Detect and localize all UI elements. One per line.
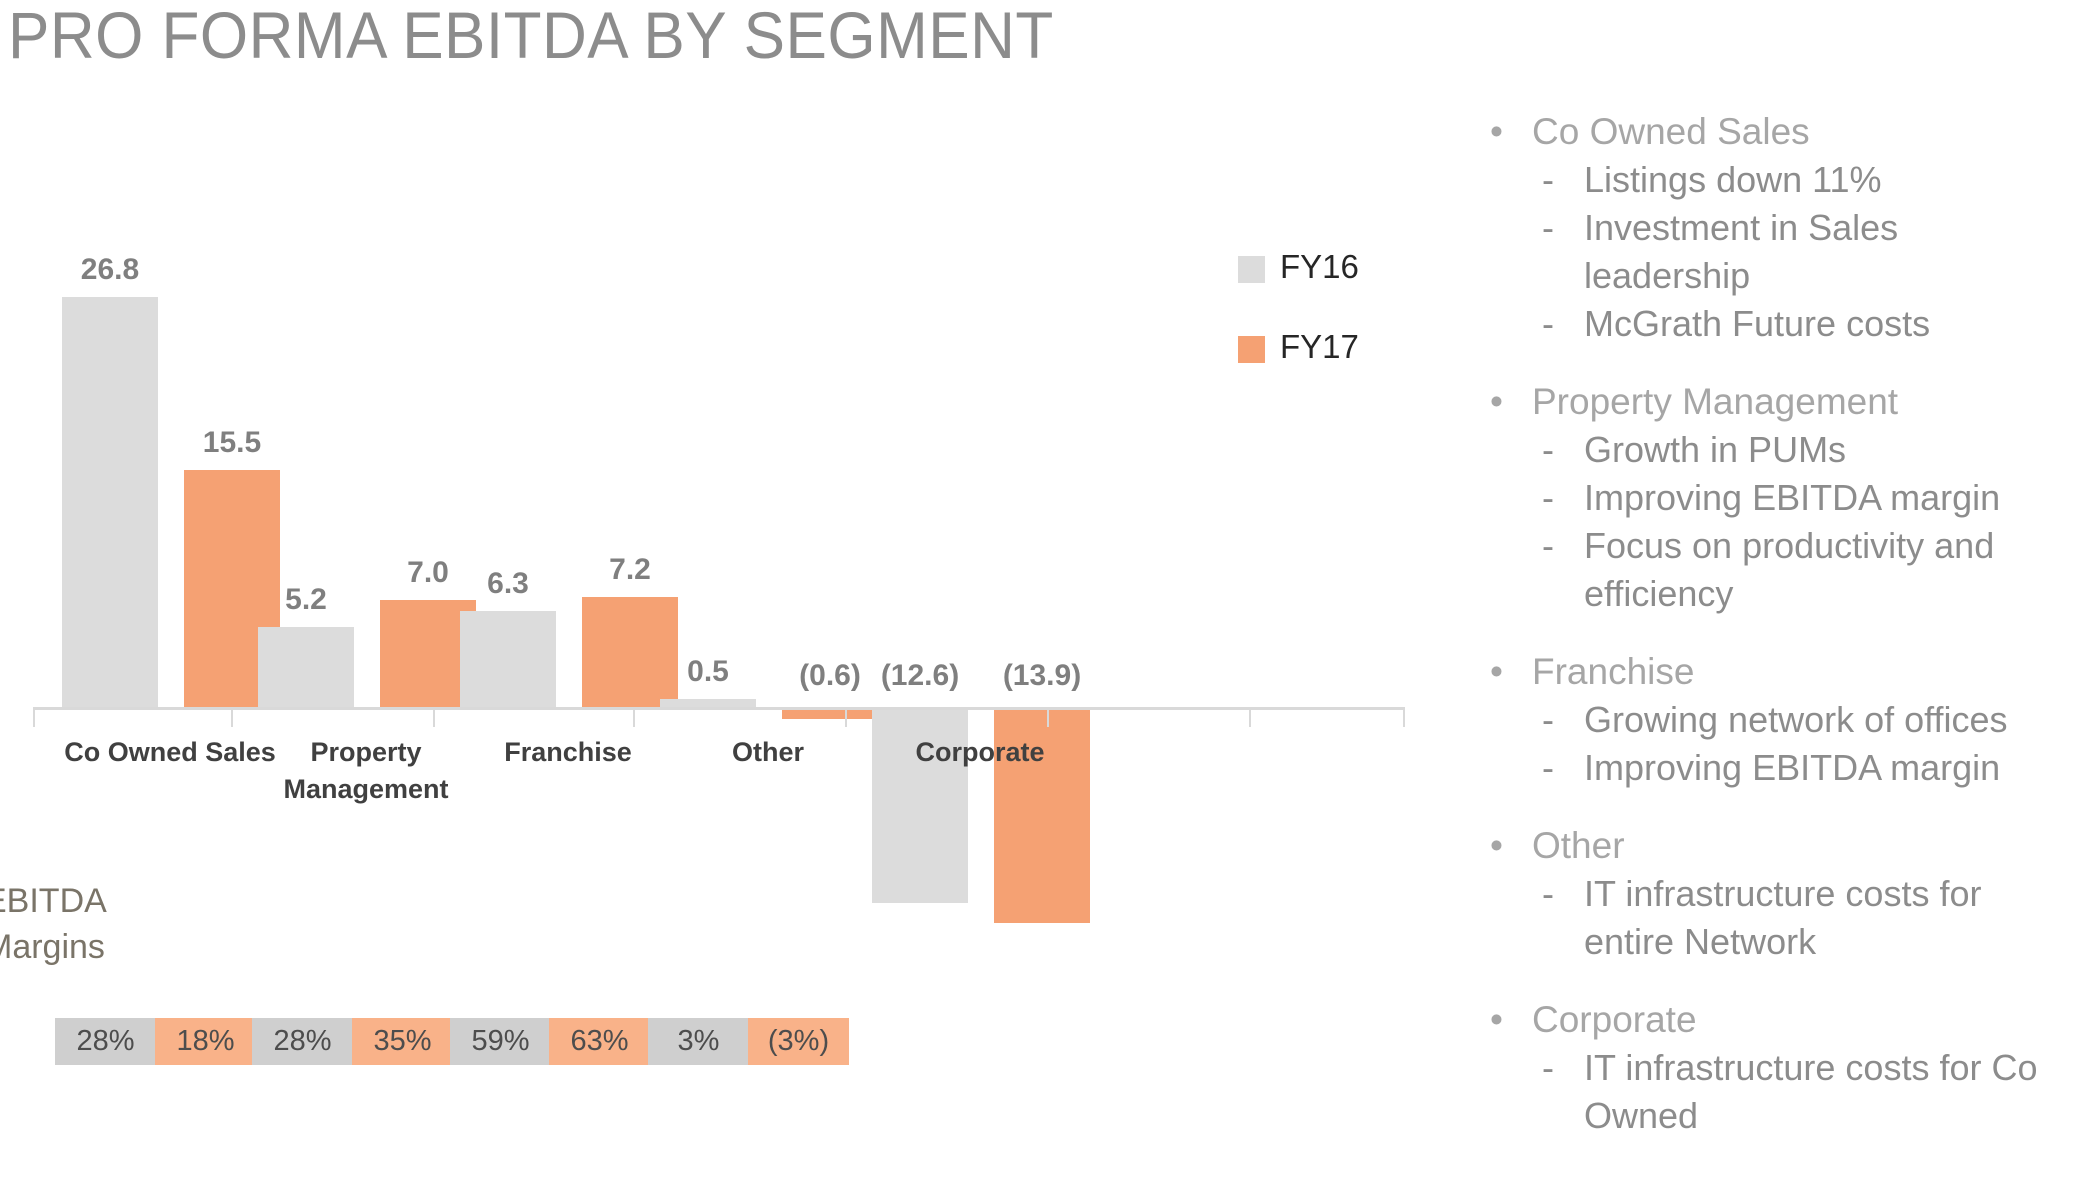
bar-fy16-co-owned-sales xyxy=(62,297,158,707)
commentary-point: -Growing network of offices xyxy=(1470,696,2070,744)
bar-value-label: 26.8 xyxy=(35,253,185,287)
bullet-icon: • xyxy=(1490,108,1503,156)
commentary-point: -Growth in PUMs xyxy=(1470,426,2070,474)
commentary-point-text: McGrath Future costs xyxy=(1584,303,1930,344)
margin-box-fy17: 63% xyxy=(549,1018,650,1065)
bullet-icon: • xyxy=(1490,648,1503,696)
legend-label-fy17: FY17 xyxy=(1280,328,1359,366)
commentary-point: -McGrath Future costs xyxy=(1470,300,2070,348)
margin-box-fy16: 28% xyxy=(252,1018,353,1065)
commentary-heading-text: Franchise xyxy=(1532,651,1694,692)
legend-swatch-fy16-icon xyxy=(1238,256,1265,283)
axis-tick xyxy=(1249,707,1251,727)
commentary-heading: •Property Management xyxy=(1470,378,2070,426)
dash-icon: - xyxy=(1542,522,1554,570)
bar-value-label: 7.2 xyxy=(555,553,705,587)
commentary-point: -IT infrastructure costs for Co Owned xyxy=(1470,1044,2070,1140)
axis-tick xyxy=(1047,707,1049,727)
dash-icon: - xyxy=(1542,696,1554,744)
commentary-point-text: IT infrastructure costs for Co Owned xyxy=(1584,1047,2037,1136)
dash-icon: - xyxy=(1542,204,1554,252)
dash-icon: - xyxy=(1542,156,1554,204)
bullet-icon: • xyxy=(1490,822,1503,870)
commentary-heading: •Corporate xyxy=(1470,996,2070,1044)
commentary-point: -IT infrastructure costs for entire Netw… xyxy=(1470,870,2070,966)
bullet-icon: • xyxy=(1490,378,1503,426)
commentary-point-text: Listings down 11% xyxy=(1584,159,1882,200)
page-title: PRO FORMA EBITDA BY SEGMENT xyxy=(8,2,1054,68)
commentary-panel: •Co Owned Sales-Listings down 11%-Invest… xyxy=(1470,108,2070,1170)
commentary-point-text: IT infrastructure costs for entire Netwo… xyxy=(1584,873,1981,962)
bar-value-label: 15.5 xyxy=(157,426,307,460)
margin-box-fy16: 59% xyxy=(450,1018,551,1065)
dash-icon: - xyxy=(1542,426,1554,474)
bullet-icon: • xyxy=(1490,996,1503,1044)
margin-box-fy16: 3% xyxy=(648,1018,749,1065)
margin-box-fy16: 28% xyxy=(55,1018,156,1065)
axis-tick xyxy=(33,707,35,727)
commentary-group: •Other-IT infrastructure costs for entir… xyxy=(1470,822,2070,966)
bar-fy16-franchise xyxy=(460,611,556,707)
commentary-point-text: Focus on productivity and efficiency xyxy=(1584,525,1994,614)
axis-tick xyxy=(433,707,435,727)
ebitda-bar-chart: 26.815.55.27.06.37.20.5(0.6)(12.6)(13.9)… xyxy=(0,90,1420,890)
axis-tick xyxy=(1403,707,1405,727)
bar-fy17-other xyxy=(782,710,878,719)
bar-fy17-franchise xyxy=(582,597,678,707)
bar-fy16-property-management xyxy=(258,627,354,707)
commentary-group: •Corporate-IT infrastructure costs for C… xyxy=(1470,996,2070,1140)
ebitda-margins-caption-line2: Margins xyxy=(0,924,107,970)
margin-box-fy17: 18% xyxy=(155,1018,256,1065)
margin-box-fy17: (3%) xyxy=(748,1018,849,1065)
commentary-heading: •Co Owned Sales xyxy=(1470,108,2070,156)
legend-swatch-fy17-icon xyxy=(1238,336,1265,363)
bar-value-label: (13.9) xyxy=(967,659,1117,693)
legend-label-fy16: FY16 xyxy=(1280,248,1359,286)
commentary-point: -Improving EBITDA margin xyxy=(1470,744,2070,792)
ebitda-margins-caption-line1: EBITDA xyxy=(0,878,107,924)
axis-tick xyxy=(633,707,635,727)
commentary-heading-text: Other xyxy=(1532,825,1625,866)
axis-tick xyxy=(231,707,233,727)
axis-tick xyxy=(845,707,847,727)
commentary-point-text: Improving EBITDA margin xyxy=(1584,747,2000,788)
commentary-heading-text: Property Management xyxy=(1532,381,1898,422)
commentary-group: •Franchise-Growing network of offices-Im… xyxy=(1470,648,2070,792)
margin-box-fy17: 35% xyxy=(352,1018,453,1065)
slide-canvas: PRO FORMA EBITDA BY SEGMENT 26.815.55.27… xyxy=(0,0,2082,1188)
category-label-corporate: Corporate xyxy=(850,734,1110,771)
category-axis-line xyxy=(33,707,1403,710)
dash-icon: - xyxy=(1542,474,1554,522)
commentary-point-text: Improving EBITDA margin xyxy=(1584,477,2000,518)
commentary-group: •Co Owned Sales-Listings down 11%-Invest… xyxy=(1470,108,2070,348)
commentary-group: •Property Management-Growth in PUMs-Impr… xyxy=(1470,378,2070,618)
bar-fy16-other xyxy=(660,699,756,707)
dash-icon: - xyxy=(1542,744,1554,792)
dash-icon: - xyxy=(1542,1044,1554,1092)
commentary-point-text: Growth in PUMs xyxy=(1584,429,1846,470)
commentary-point: -Improving EBITDA margin xyxy=(1470,474,2070,522)
commentary-point: -Investment in Sales leadership xyxy=(1470,204,2070,300)
commentary-point: -Focus on productivity and efficiency xyxy=(1470,522,2070,618)
commentary-point-text: Growing network of offices xyxy=(1584,699,2008,740)
commentary-point: -Listings down 11% xyxy=(1470,156,2070,204)
commentary-heading: •Franchise xyxy=(1470,648,2070,696)
commentary-heading: •Other xyxy=(1470,822,2070,870)
ebitda-margins-caption: EBITDA Margins xyxy=(0,878,107,970)
commentary-heading-text: Corporate xyxy=(1532,999,1697,1040)
commentary-point-text: Investment in Sales leadership xyxy=(1584,207,1898,296)
commentary-heading-text: Co Owned Sales xyxy=(1532,111,1810,152)
dash-icon: - xyxy=(1542,870,1554,918)
dash-icon: - xyxy=(1542,300,1554,348)
